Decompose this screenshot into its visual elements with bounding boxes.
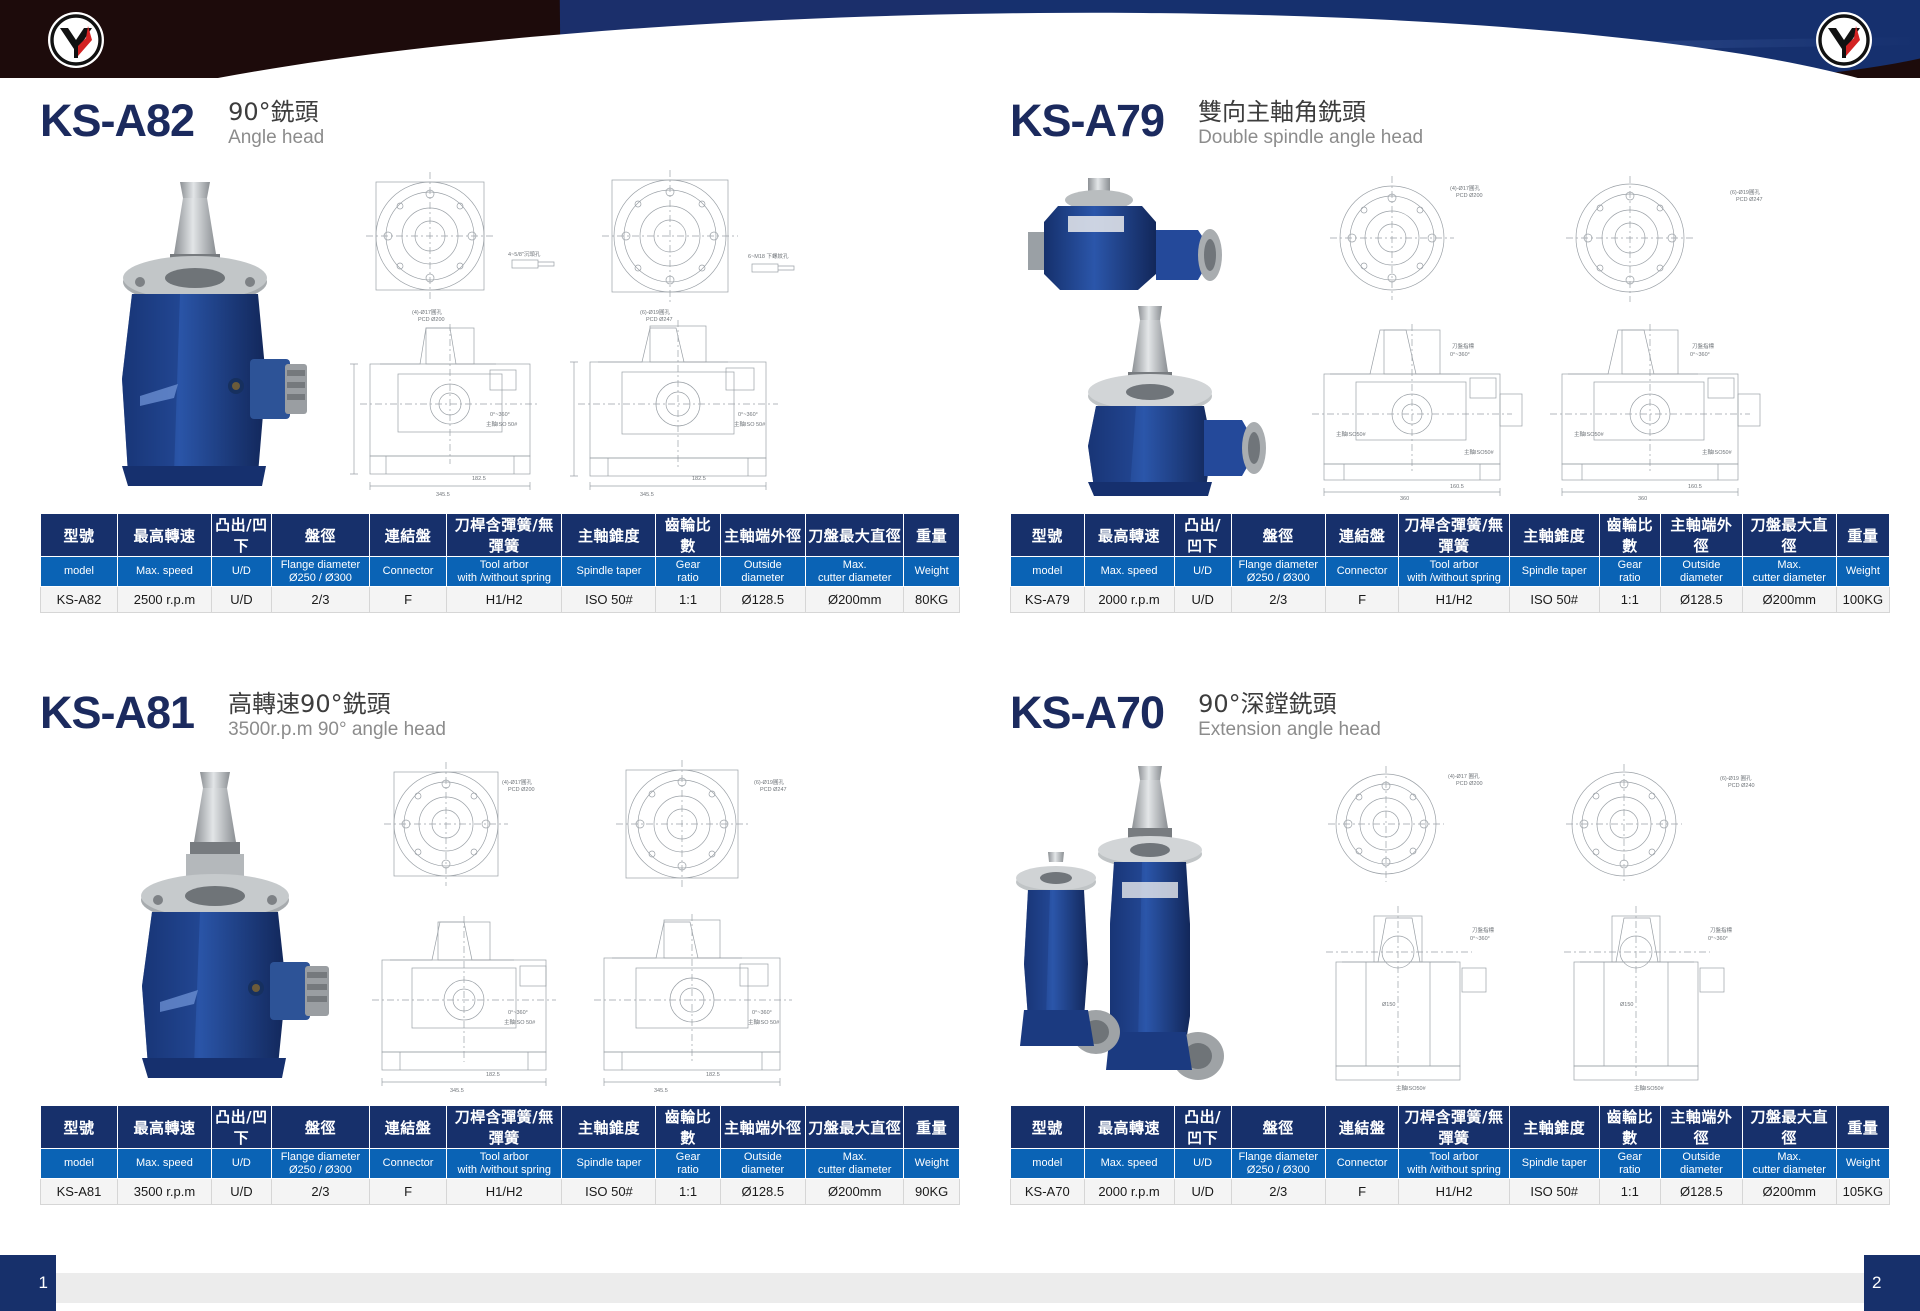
th-connector-en: Connector	[370, 557, 447, 587]
table-row: KS-A81 3500 r.p.m U/D 2/3 F H1/H2 ISO 50…	[41, 1179, 960, 1205]
th-flange-en: Flange diameterØ250 / Ø300	[1231, 1149, 1325, 1179]
th-taper-en: Spindle taper	[1509, 557, 1599, 587]
th-arbor-en: Tool arborwith /without spring	[1399, 557, 1509, 587]
th-ud-cn: 凸出/凹下	[1174, 1106, 1231, 1149]
cell-flange: 2/3	[271, 1179, 369, 1205]
product-title-cn: 90°銑頭	[228, 98, 324, 126]
table-row: KS-A82 2500 r.p.m U/D 2/3 F H1/H2 ISO 50…	[41, 587, 960, 613]
th-ud-cn: 凸出/凹下	[1174, 514, 1231, 557]
th-gear-cn: 齒輪比數	[1599, 514, 1660, 557]
th-weight-cn: 重量	[1836, 1106, 1889, 1149]
cell-gear: 1:1	[656, 1179, 720, 1205]
table-header-row-cn: 型號 最高轉速 凸出/凹下 盤徑 連結盤 刀桿含彈簧/無彈簧 主軸錐度 齒輪比數…	[1011, 514, 1890, 557]
cell-ud: U/D	[1174, 587, 1231, 613]
figure-area: (4)-Ø17圓孔PCD Ø200 (6)-Ø19圓孔PCD Ø247 345.…	[40, 164, 960, 509]
th-weight-cn: 重量	[1836, 514, 1889, 557]
th-model-cn: 型號	[1011, 514, 1085, 557]
th-connector-cn: 連結盤	[1325, 1106, 1399, 1149]
cell-flange: 2/3	[271, 587, 369, 613]
cell-ud: U/D	[211, 587, 271, 613]
svg-text:182.5: 182.5	[472, 476, 486, 482]
svg-text:刀盤指標: 刀盤指標	[1452, 342, 1475, 350]
product-title-en: Angle head	[228, 126, 324, 150]
cell-od: Ø128.5	[720, 1179, 805, 1205]
th-gear-en: Gearratio	[1599, 1149, 1660, 1179]
svg-text:360: 360	[1638, 496, 1647, 502]
product-title-cn: 90°深鏜銑頭	[1198, 690, 1381, 718]
th-flange-en: Flange diameterØ250 / Ø300	[271, 1149, 369, 1179]
cell-speed: 2000 r.p.m	[1084, 1179, 1174, 1205]
th-speed-en: Max. speed	[117, 557, 211, 587]
th-speed-cn: 最高轉速	[117, 1106, 211, 1149]
cell-ud: U/D	[211, 1179, 271, 1205]
svg-text:0°~360°: 0°~360°	[1450, 352, 1470, 358]
table-header-row-en: model Max. speed U/D Flange diameterØ250…	[1011, 1149, 1890, 1179]
table-header-row-cn: 型號 最高轉速 凸出/凹下 盤徑 連結盤 刀桿含彈簧/無彈簧 主軸錐度 齒輪比數…	[1011, 1106, 1890, 1149]
th-model-en: model	[41, 557, 118, 587]
th-cutter-cn: 刀盤最大直徑	[1742, 1106, 1836, 1149]
cell-model: KS-A81	[41, 1179, 118, 1205]
svg-text:主軸ISO50#: 主軸ISO50#	[1336, 430, 1367, 438]
svg-text:PCD Ø200: PCD Ø200	[418, 317, 445, 323]
th-connector-en: Connector	[1325, 557, 1399, 587]
th-cutter-cn: 刀盤最大直徑	[806, 514, 904, 557]
svg-text:PCD Ø200: PCD Ø200	[508, 787, 535, 793]
th-taper-cn: 主軸錐度	[562, 514, 656, 557]
th-gear-en: Gearratio	[1599, 557, 1660, 587]
product-block-ks-a79: KS-A79 雙向主軸角銑頭 Double spindle angle head	[1010, 96, 1890, 613]
cell-arbor: H1/H2	[447, 587, 562, 613]
svg-text:(4)-Ø17圓孔: (4)-Ø17圓孔	[1450, 184, 1480, 192]
product-photo	[1010, 764, 1260, 1094]
technical-drawing: (4)-Ø17圓孔PCD Ø200 (6)-Ø19圓孔PCD Ø247 345.…	[340, 164, 950, 504]
technical-drawing: (4)-Ø17 圓孔PCD Ø200 (6)-Ø19 圓孔PCD Ø240 刀盤…	[1280, 756, 1890, 1096]
svg-text:PCD Ø200: PCD Ø200	[1456, 193, 1483, 199]
table-header-row-cn: 型號 最高轉速 凸出/凹下 盤徑 連結盤 刀桿含彈簧/無彈簧 主軸錐度 齒輪比數…	[41, 514, 960, 557]
svg-text:主軸ISO 50#: 主軸ISO 50#	[486, 420, 518, 428]
th-gear-cn: 齒輪比數	[1599, 1106, 1660, 1149]
th-flange-cn: 盤徑	[1231, 1106, 1325, 1149]
figure-area: (4)-Ø17圓孔PCD Ø200 (6)-Ø19圓孔PCD Ø247 345.…	[40, 756, 960, 1101]
th-weight-en: Weight	[1836, 557, 1889, 587]
cell-od: Ø128.5	[1660, 587, 1742, 613]
product-title-cn: 雙向主軸角銑頭	[1198, 98, 1423, 126]
th-model-en: model	[1011, 1149, 1085, 1179]
cell-connector: F	[1325, 587, 1399, 613]
th-ud-en: U/D	[1174, 557, 1231, 587]
th-taper-en: Spindle taper	[1509, 1149, 1599, 1179]
cell-model: KS-A82	[41, 587, 118, 613]
table-header-row-en: model Max. speed U/D Flange diameterØ250…	[41, 557, 960, 587]
product-code: KS-A81	[40, 688, 194, 738]
svg-text:6~M18 下螺紋孔: 6~M18 下螺紋孔	[748, 252, 789, 260]
product-photo	[1020, 170, 1280, 500]
cell-taper: ISO 50#	[562, 1179, 656, 1205]
cell-connector: F	[370, 587, 447, 613]
th-od-cn: 主軸端外徑	[1660, 1106, 1742, 1149]
technical-drawing: (4)-Ø17圓孔PCD Ø200 (6)-Ø19圓孔PCD Ø247 刀盤指標…	[1300, 164, 1890, 504]
th-ud-en: U/D	[211, 1149, 271, 1179]
svg-text:刀盤指標: 刀盤指標	[1472, 926, 1495, 934]
cell-cutter: Ø200mm	[806, 587, 904, 613]
cell-speed: 3500 r.p.m	[117, 1179, 211, 1205]
svg-text:345.5: 345.5	[654, 1088, 668, 1094]
svg-text:主軸ISO50#: 主軸ISO50#	[1396, 1084, 1427, 1092]
th-arbor-cn: 刀桿含彈簧/無彈簧	[447, 1106, 562, 1149]
product-title-row: KS-A82 90°銑頭 Angle head	[40, 96, 960, 158]
svg-text:PCD Ø247: PCD Ø247	[1736, 197, 1763, 203]
th-weight-cn: 重量	[904, 1106, 960, 1149]
th-arbor-en: Tool arborwith /without spring	[447, 1149, 562, 1179]
th-od-en: Outsidediameter	[720, 1149, 805, 1179]
cell-weight: 90KG	[904, 1179, 960, 1205]
svg-text:刀盤指標: 刀盤指標	[1710, 926, 1733, 934]
th-od-en: Outsidediameter	[720, 557, 805, 587]
svg-text:0°~360°: 0°~360°	[1470, 936, 1490, 942]
cell-od: Ø128.5	[720, 587, 805, 613]
svg-text:0°~360°: 0°~360°	[738, 412, 758, 418]
th-connector-en: Connector	[1325, 1149, 1399, 1179]
cell-connector: F	[1325, 1179, 1399, 1205]
th-weight-en: Weight	[1836, 1149, 1889, 1179]
th-taper-cn: 主軸錐度	[1509, 514, 1599, 557]
spec-table: 型號 最高轉速 凸出/凹下 盤徑 連結盤 刀桿含彈簧/無彈簧 主軸錐度 齒輪比數…	[1010, 1105, 1890, 1205]
product-title-row: KS-A70 90°深鏜銑頭 Extension angle head	[1010, 688, 1890, 750]
th-weight-en: Weight	[904, 557, 960, 587]
th-connector-en: Connector	[370, 1149, 447, 1179]
company-logo-icon-right	[1816, 12, 1872, 68]
table-header-row-cn: 型號 最高轉速 凸出/凹下 盤徑 連結盤 刀桿含彈簧/無彈簧 主軸錐度 齒輪比數…	[41, 1106, 960, 1149]
svg-text:345.5: 345.5	[436, 492, 450, 498]
svg-text:主軸ISO 50#: 主軸ISO 50#	[734, 420, 766, 428]
cell-connector: F	[370, 1179, 447, 1205]
product-title-en: 3500r.p.m 90° angle head	[228, 718, 446, 742]
th-speed-en: Max. speed	[117, 1149, 211, 1179]
cell-taper: ISO 50#	[1509, 587, 1599, 613]
catalog-page: KS-A82 90°銑頭 Angle head	[0, 0, 1920, 1311]
cell-flange: 2/3	[1231, 587, 1325, 613]
th-weight-en: Weight	[904, 1149, 960, 1179]
th-speed-en: Max. speed	[1084, 1149, 1174, 1179]
svg-text:PCD Ø247: PCD Ø247	[760, 787, 787, 793]
th-arbor-en: Tool arborwith /without spring	[1399, 1149, 1509, 1179]
product-code: KS-A82	[40, 96, 194, 146]
svg-text:(6)-Ø19圓孔: (6)-Ø19圓孔	[640, 308, 670, 316]
svg-text:0°~360°: 0°~360°	[1690, 352, 1710, 358]
th-speed-en: Max. speed	[1084, 557, 1174, 587]
spec-table: 型號 最高轉速 凸出/凹下 盤徑 連結盤 刀桿含彈簧/無彈簧 主軸錐度 齒輪比數…	[40, 1105, 960, 1205]
th-od-cn: 主軸端外徑	[720, 514, 805, 557]
th-cutter-cn: 刀盤最大直徑	[1742, 514, 1836, 557]
svg-text:160.5: 160.5	[1688, 484, 1702, 490]
svg-text:Ø150: Ø150	[1620, 1002, 1633, 1008]
svg-text:160.5: 160.5	[1450, 484, 1464, 490]
th-connector-cn: 連結盤	[370, 1106, 447, 1149]
svg-text:4~5/8"沉頭孔: 4~5/8"沉頭孔	[508, 250, 541, 258]
spec-table: 型號 最高轉速 凸出/凹下 盤徑 連結盤 刀桿含彈簧/無彈簧 主軸錐度 齒輪比數…	[40, 513, 960, 613]
svg-text:PCD Ø200: PCD Ø200	[1456, 781, 1483, 787]
cell-model: KS-A79	[1011, 587, 1085, 613]
svg-text:(6)-Ø19圓孔: (6)-Ø19圓孔	[754, 778, 784, 786]
product-code: KS-A70	[1010, 688, 1164, 738]
th-flange-en: Flange diameterØ250 / Ø300	[1231, 557, 1325, 587]
svg-text:(4)-Ø17圓孔: (4)-Ø17圓孔	[502, 778, 532, 786]
cell-speed: 2000 r.p.m	[1084, 587, 1174, 613]
th-model-cn: 型號	[41, 514, 118, 557]
th-speed-cn: 最高轉速	[117, 514, 211, 557]
svg-text:0°~360°: 0°~360°	[508, 1010, 528, 1016]
svg-text:182.5: 182.5	[486, 1072, 500, 1078]
product-photo	[70, 174, 320, 494]
product-title-row: KS-A79 雙向主軸角銑頭 Double spindle angle head	[1010, 96, 1890, 158]
svg-text:刀盤指標: 刀盤指標	[1692, 342, 1715, 350]
th-model-cn: 型號	[41, 1106, 118, 1149]
svg-text:(4)-Ø17圓孔: (4)-Ø17圓孔	[412, 308, 442, 316]
svg-text:182.5: 182.5	[692, 476, 706, 482]
th-taper-en: Spindle taper	[562, 557, 656, 587]
svg-text:主軸ISO50#: 主軸ISO50#	[1464, 448, 1495, 456]
svg-text:PCD Ø247: PCD Ø247	[646, 317, 673, 323]
svg-text:0°~360°: 0°~360°	[490, 412, 510, 418]
cell-model: KS-A70	[1011, 1179, 1085, 1205]
th-ud-en: U/D	[211, 557, 271, 587]
th-connector-cn: 連結盤	[370, 514, 447, 557]
th-gear-en: Gearratio	[656, 1149, 720, 1179]
cell-ud: U/D	[1174, 1179, 1231, 1205]
company-logo-icon-left	[48, 12, 104, 68]
footer-bar	[40, 1273, 1880, 1303]
svg-text:360: 360	[1400, 496, 1409, 502]
th-ud-en: U/D	[1174, 1149, 1231, 1179]
th-model-en: model	[41, 1149, 118, 1179]
cell-taper: ISO 50#	[1509, 1179, 1599, 1205]
svg-text:345.5: 345.5	[450, 1088, 464, 1094]
th-cutter-cn: 刀盤最大直徑	[806, 1106, 904, 1149]
page-number-right: 2	[1864, 1255, 1920, 1311]
table-row: KS-A79 2000 r.p.m U/D 2/3 F H1/H2 ISO 50…	[1011, 587, 1890, 613]
th-arbor-cn: 刀桿含彈簧/無彈簧	[1399, 1106, 1509, 1149]
page-footer: 1 2	[0, 1255, 1920, 1311]
product-block-ks-a70: KS-A70 90°深鏜銑頭 Extension angle head	[1010, 688, 1890, 1205]
cell-gear: 1:1	[1599, 1179, 1660, 1205]
svg-text:(6)-Ø19圓孔: (6)-Ø19圓孔	[1730, 188, 1760, 196]
product-title-row: KS-A81 高轉速90°銑頭 3500r.p.m 90° angle head	[40, 688, 960, 750]
th-od-cn: 主軸端外徑	[1660, 514, 1742, 557]
svg-text:PCD Ø240: PCD Ø240	[1728, 783, 1755, 789]
technical-drawing: (4)-Ø17圓孔PCD Ø200 (6)-Ø19圓孔PCD Ø247 345.…	[350, 756, 950, 1096]
th-gear-cn: 齒輪比數	[656, 1106, 720, 1149]
cell-cutter: Ø200mm	[1742, 587, 1836, 613]
th-flange-cn: 盤徑	[271, 514, 369, 557]
th-gear-cn: 齒輪比數	[656, 514, 720, 557]
figure-area: (4)-Ø17 圓孔PCD Ø200 (6)-Ø19 圓孔PCD Ø240 刀盤…	[1010, 756, 1890, 1101]
th-flange-en: Flange diameterØ250 / Ø300	[271, 557, 369, 587]
th-gear-en: Gearratio	[656, 557, 720, 587]
svg-text:主軸ISO50#: 主軸ISO50#	[1574, 430, 1605, 438]
th-flange-cn: 盤徑	[1231, 514, 1325, 557]
th-speed-cn: 最高轉速	[1084, 514, 1174, 557]
page-header	[0, 0, 1920, 78]
product-photo	[90, 766, 340, 1086]
th-arbor-cn: 刀桿含彈簧/無彈簧	[447, 514, 562, 557]
th-od-en: Outsidediameter	[1660, 1149, 1742, 1179]
th-od-cn: 主軸端外徑	[720, 1106, 805, 1149]
th-taper-cn: 主軸錐度	[562, 1106, 656, 1149]
cell-arbor: H1/H2	[447, 1179, 562, 1205]
cell-arbor: H1/H2	[1399, 587, 1509, 613]
svg-text:345.5: 345.5	[640, 492, 654, 498]
th-connector-cn: 連結盤	[1325, 514, 1399, 557]
th-cutter-en: Max.cutter diameter	[806, 557, 904, 587]
th-model-en: model	[1011, 557, 1085, 587]
th-speed-cn: 最高轉速	[1084, 1106, 1174, 1149]
product-title-en: Extension angle head	[1198, 718, 1381, 742]
svg-text:主軸ISO 50#: 主軸ISO 50#	[748, 1018, 780, 1026]
th-ud-cn: 凸出/凹下	[211, 1106, 271, 1149]
svg-text:0°~360°: 0°~360°	[1708, 936, 1728, 942]
svg-text:(6)-Ø19 圓孔: (6)-Ø19 圓孔	[1720, 774, 1752, 782]
cell-cutter: Ø200mm	[806, 1179, 904, 1205]
product-title-en: Double spindle angle head	[1198, 126, 1423, 150]
svg-text:182.5: 182.5	[706, 1072, 720, 1078]
svg-text:(4)-Ø17 圓孔: (4)-Ø17 圓孔	[1448, 772, 1480, 780]
th-ud-cn: 凸出/凹下	[211, 514, 271, 557]
cell-od: Ø128.5	[1660, 1179, 1742, 1205]
th-model-cn: 型號	[1011, 1106, 1085, 1149]
th-taper-cn: 主軸錐度	[1509, 1106, 1599, 1149]
product-block-ks-a81: KS-A81 高轉速90°銑頭 3500r.p.m 90° angle head	[40, 688, 960, 1205]
table-row: KS-A70 2000 r.p.m U/D 2/3 F H1/H2 ISO 50…	[1011, 1179, 1890, 1205]
cell-weight: 80KG	[904, 587, 960, 613]
cell-weight: 100KG	[1836, 587, 1889, 613]
th-taper-en: Spindle taper	[562, 1149, 656, 1179]
product-title-cn: 高轉速90°銑頭	[228, 690, 446, 718]
svg-text:0°~360°: 0°~360°	[752, 1010, 772, 1016]
cell-gear: 1:1	[1599, 587, 1660, 613]
cell-speed: 2500 r.p.m	[117, 587, 211, 613]
table-header-row-en: model Max. speed U/D Flange diameterØ250…	[1011, 557, 1890, 587]
th-cutter-en: Max.cutter diameter	[806, 1149, 904, 1179]
cell-weight: 105KG	[1836, 1179, 1889, 1205]
cell-gear: 1:1	[656, 587, 720, 613]
th-cutter-en: Max.cutter diameter	[1742, 1149, 1836, 1179]
product-code: KS-A79	[1010, 96, 1164, 146]
cell-cutter: Ø200mm	[1742, 1179, 1836, 1205]
th-arbor-en: Tool arborwith /without spring	[447, 557, 562, 587]
spec-table: 型號 最高轉速 凸出/凹下 盤徑 連結盤 刀桿含彈簧/無彈簧 主軸錐度 齒輪比數…	[1010, 513, 1890, 613]
th-weight-cn: 重量	[904, 514, 960, 557]
th-od-en: Outsidediameter	[1660, 557, 1742, 587]
table-header-row-en: model Max. speed U/D Flange diameterØ250…	[41, 1149, 960, 1179]
page-number-left: 1	[0, 1255, 56, 1311]
th-flange-cn: 盤徑	[271, 1106, 369, 1149]
cell-taper: ISO 50#	[562, 587, 656, 613]
svg-text:主軸ISO 50#: 主軸ISO 50#	[504, 1018, 536, 1026]
svg-text:Ø150: Ø150	[1382, 1002, 1395, 1008]
figure-area: (4)-Ø17圓孔PCD Ø200 (6)-Ø19圓孔PCD Ø247 刀盤指標…	[1010, 164, 1890, 509]
cell-flange: 2/3	[1231, 1179, 1325, 1205]
th-arbor-cn: 刀桿含彈簧/無彈簧	[1399, 514, 1509, 557]
th-cutter-en: Max.cutter diameter	[1742, 557, 1836, 587]
product-block-ks-a82: KS-A82 90°銑頭 Angle head	[40, 96, 960, 613]
svg-text:主軸ISO50#: 主軸ISO50#	[1634, 1084, 1665, 1092]
svg-text:主軸ISO50#: 主軸ISO50#	[1702, 448, 1733, 456]
cell-arbor: H1/H2	[1399, 1179, 1509, 1205]
